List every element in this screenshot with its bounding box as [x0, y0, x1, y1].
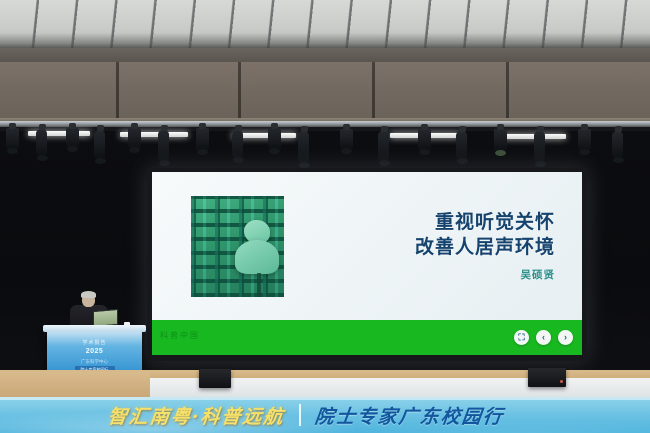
stage-monitor-right: [528, 368, 566, 387]
stage-light: [378, 131, 389, 162]
stage-light: [612, 131, 623, 159]
prev-icon[interactable]: ‹: [536, 330, 551, 345]
monitor-led: [560, 380, 563, 383]
banner-divider: [299, 404, 301, 426]
slide-nav-controls[interactable]: ⛶ ‹ ›: [514, 330, 573, 345]
stage-monitor-left: [199, 369, 231, 388]
podium-line-3: 广东科学中心: [47, 359, 142, 365]
dummy-stand: [257, 273, 261, 297]
stage-light: [158, 130, 169, 162]
stage-light: [66, 128, 79, 148]
wall-seam: [372, 62, 375, 124]
stage-light: [6, 128, 19, 150]
podium-top: [43, 325, 146, 332]
podium-year: 2025: [47, 348, 142, 355]
wall-seam: [238, 62, 241, 124]
event-banner: 智汇南粤·科普远航 院士专家广东校园行: [0, 397, 650, 433]
stage-light: [456, 131, 467, 160]
podium-line-1: 学术报告: [47, 339, 142, 346]
stage-light: [494, 129, 507, 152]
fullscreen-icon[interactable]: ⛶: [514, 330, 529, 345]
stage-light: [36, 129, 47, 157]
wall-seam: [506, 62, 509, 124]
stage-light: [196, 128, 209, 151]
slide-footer-band: 科普中国 ⛶ ‹ ›: [152, 320, 582, 355]
stage-light: [534, 131, 545, 163]
stage-light: [298, 131, 309, 164]
next-icon[interactable]: ›: [558, 330, 573, 345]
slide-title: 重视听觉关怀 改善人居声环境: [415, 210, 555, 260]
stage-light: [578, 129, 591, 151]
slide-text-block: 重视听觉关怀 改善人居声环境 吴硕贤: [415, 210, 555, 282]
slide-author: 吴硕贤: [415, 267, 555, 282]
stage-light: [94, 130, 105, 160]
banner-slogan: 智汇南粤·科普远航: [106, 402, 286, 429]
stage-light: [232, 130, 243, 159]
projection-screen: 重视听觉关怀 改善人居声环境 吴硕贤 科普中国 ⛶ ‹ ›: [147, 168, 587, 361]
ceiling: [0, 0, 650, 50]
speaker-hair: [81, 291, 96, 298]
banner-event-name: 院士专家广东校园行: [313, 402, 505, 429]
slide-surface: 重视听觉关怀 改善人居声环境 吴硕贤 科普中国 ⛶ ‹ ›: [152, 172, 582, 355]
stage-light: [418, 129, 431, 151]
stage-light: [268, 128, 281, 150]
footer-watermark: 科普中国: [160, 330, 200, 341]
back-wall: [0, 62, 650, 124]
slide-content: 重视听觉关怀 改善人居声环境 吴硕贤: [152, 172, 582, 320]
stage-light: [340, 129, 353, 150]
wall-seam: [116, 62, 119, 124]
strip-light: [500, 134, 566, 139]
dummy-torso: [235, 240, 279, 274]
anechoic-chamber-image: [191, 196, 284, 297]
auditorium-scene: 重视听觉关怀 改善人居声环境 吴硕贤 科普中国 ⛶ ‹ › 学术报告 2025 …: [0, 0, 650, 433]
stage-light: [128, 128, 141, 149]
